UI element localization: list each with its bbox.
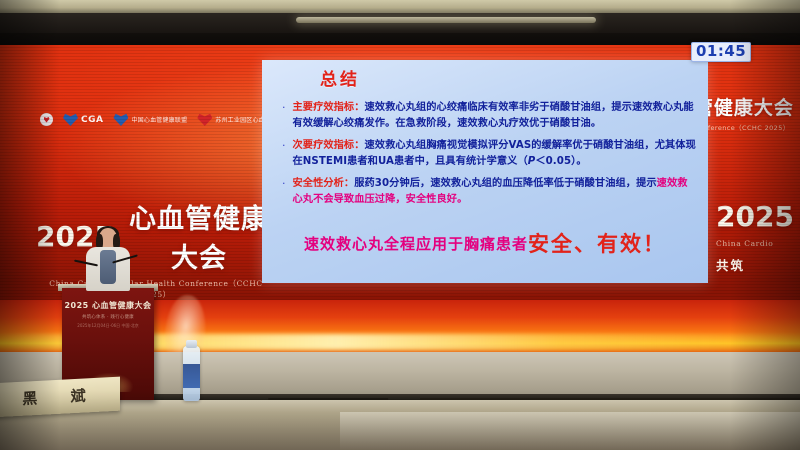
bullet-text-primary-endpoint: 主要疗效指标：速效救心丸组的心绞痛临床有效率非劣于硝酸甘油组，提示速效救心丸能有…	[293, 100, 697, 131]
heart-swirl-icon	[113, 113, 128, 126]
slide-bullet-list: · 主要疗效指标：速效救心丸组的心绞痛临床有效率非劣于硝酸甘油组，提示速效救心丸…	[282, 100, 696, 214]
lockup-year-right: 2025	[716, 200, 794, 233]
podium-year: 2025	[64, 301, 88, 310]
led-conference-lockup-right: 2025 心血管健 China Cardio 共筑	[716, 197, 800, 274]
slide-title: 总结	[320, 65, 360, 90]
water-bottle-label	[183, 364, 200, 388]
podium-title-cn: 心血管健康大会	[92, 301, 152, 310]
conclusion-lead: 速效救心丸全程应用于胸痛患者	[304, 233, 528, 254]
water-bottle-cap	[186, 340, 197, 348]
conference-photo-scene: CGA 中国心血管健康联盟 苏州工业园区心血管健康研究院 CGA 中国心血管健康…	[0, 0, 800, 450]
podium-date: 2025年12月04日-06日 中国·北京	[62, 323, 154, 329]
bullet-text-secondary-endpoint: 次要疗效指标：速效救心丸组胸痛视觉模拟评分VAS的缓解率优于硝酸甘油组，尤其体现…	[293, 138, 697, 169]
lockup-title-row: 2025 心血管健康大会	[36, 197, 276, 275]
bullet-marker: ·	[282, 138, 286, 169]
list-item: · 安全性分析：服药30分钟后，速效救心丸组的血压降低率低于硝酸甘油组，提示速效…	[282, 176, 696, 207]
logo-label-alliance: 中国心血管健康联盟	[131, 115, 187, 124]
list-item: · 次要疗效指标：速效救心丸组胸痛视觉模拟评分VAS的缓解率优于硝酸甘油组，尤其…	[282, 138, 696, 169]
conclusion-emphasis: 安全、有效！	[528, 228, 666, 258]
lockup-title-cn: 心血管健康大会	[122, 197, 276, 275]
heart-circle-icon	[40, 113, 53, 126]
ceiling-panel	[0, 0, 800, 14]
lockup-slogan-right: 共筑	[716, 255, 800, 274]
logo-label-cga: CGA	[81, 115, 103, 125]
presentation-slide: 总结 · 主要疗效指标：速效救心丸组的心绞痛临床有效率非劣于硝酸甘油组，提示速效…	[262, 60, 708, 283]
logo-chip-alliance: 中国心血管健康联盟	[113, 113, 187, 126]
list-item: · 主要疗效指标：速效救心丸组的心绞痛临床有效率非劣于硝酸甘油组，提示速效救心丸…	[282, 100, 696, 131]
heart-hands-icon	[63, 113, 78, 126]
speaker-inner-top	[100, 250, 116, 284]
bullet-text-safety-analysis: 安全性分析：服药30分钟后，速效救心丸组的血压降低率低于硝酸甘油组，提示速效救心…	[293, 176, 697, 207]
podium-branding: 2025 心血管健康大会 共筑心体系 · 践行心健康 2025年12月04日-0…	[62, 300, 154, 329]
podium-slogan: 共筑心体系 · 践行心健康	[62, 314, 154, 320]
lockup-title-en-right: China Cardio	[716, 239, 800, 248]
podium-title: 2025 心血管健康大会	[62, 300, 154, 311]
heart-outline-icon	[197, 113, 212, 126]
slide-conclusion: 速效救心丸全程应用于胸痛患者安全、有效！	[262, 228, 708, 258]
lockup-title-row-right: 2025 心血管健	[716, 197, 800, 236]
table-sheen	[340, 412, 800, 450]
logo-chip-cga: CGA	[63, 113, 103, 126]
countdown-timer: 01:45	[691, 42, 751, 62]
ceiling-light-slot	[296, 17, 596, 23]
bullet-marker: ·	[282, 100, 286, 131]
logo-chip-1	[40, 113, 53, 126]
bullet-marker: ·	[282, 176, 286, 207]
